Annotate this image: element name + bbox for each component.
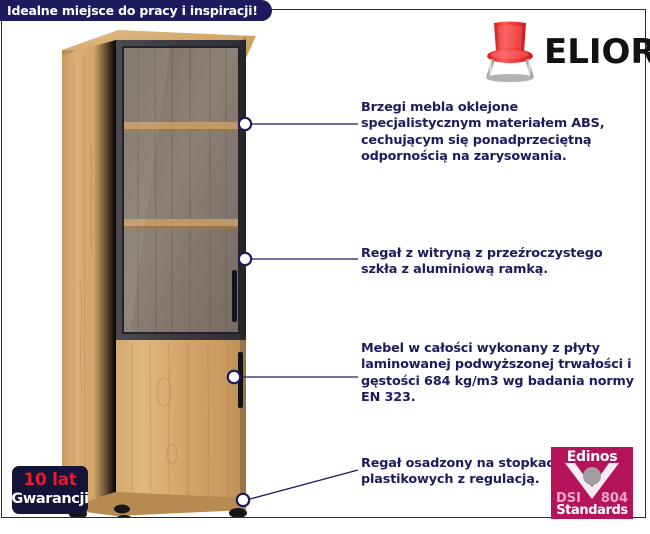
brand-name: ELIOR — [544, 35, 650, 69]
header-banner: Idealne miejsce do pracy i inspiracji! — [0, 0, 272, 21]
warranty-years: 10 lat — [23, 472, 76, 489]
callout-abs-edges: Brzegi mebla oklejone specjalistycznym m… — [361, 100, 636, 166]
callout-glass-vitrine: Regał z witryną z przeźroczystego szkła … — [361, 246, 636, 279]
warranty-label: Gwarancji — [11, 491, 88, 508]
edinos-standards-badge: Edinos DSI 804 Standards — [551, 447, 633, 519]
brand-logo: ELIOR — [480, 20, 640, 84]
red-chair-icon — [480, 21, 540, 83]
edinos-standards-label: Standards — [551, 503, 633, 518]
callout-laminated-board: Mebel w całości wykonany z płyty laminow… — [361, 341, 636, 407]
product-image-cabinet — [60, 22, 290, 517]
warranty-badge: 10 lat Gwarancji — [12, 466, 88, 514]
banner-title: Idealne miejsce do pracy i inspiracji! — [0, 3, 258, 18]
